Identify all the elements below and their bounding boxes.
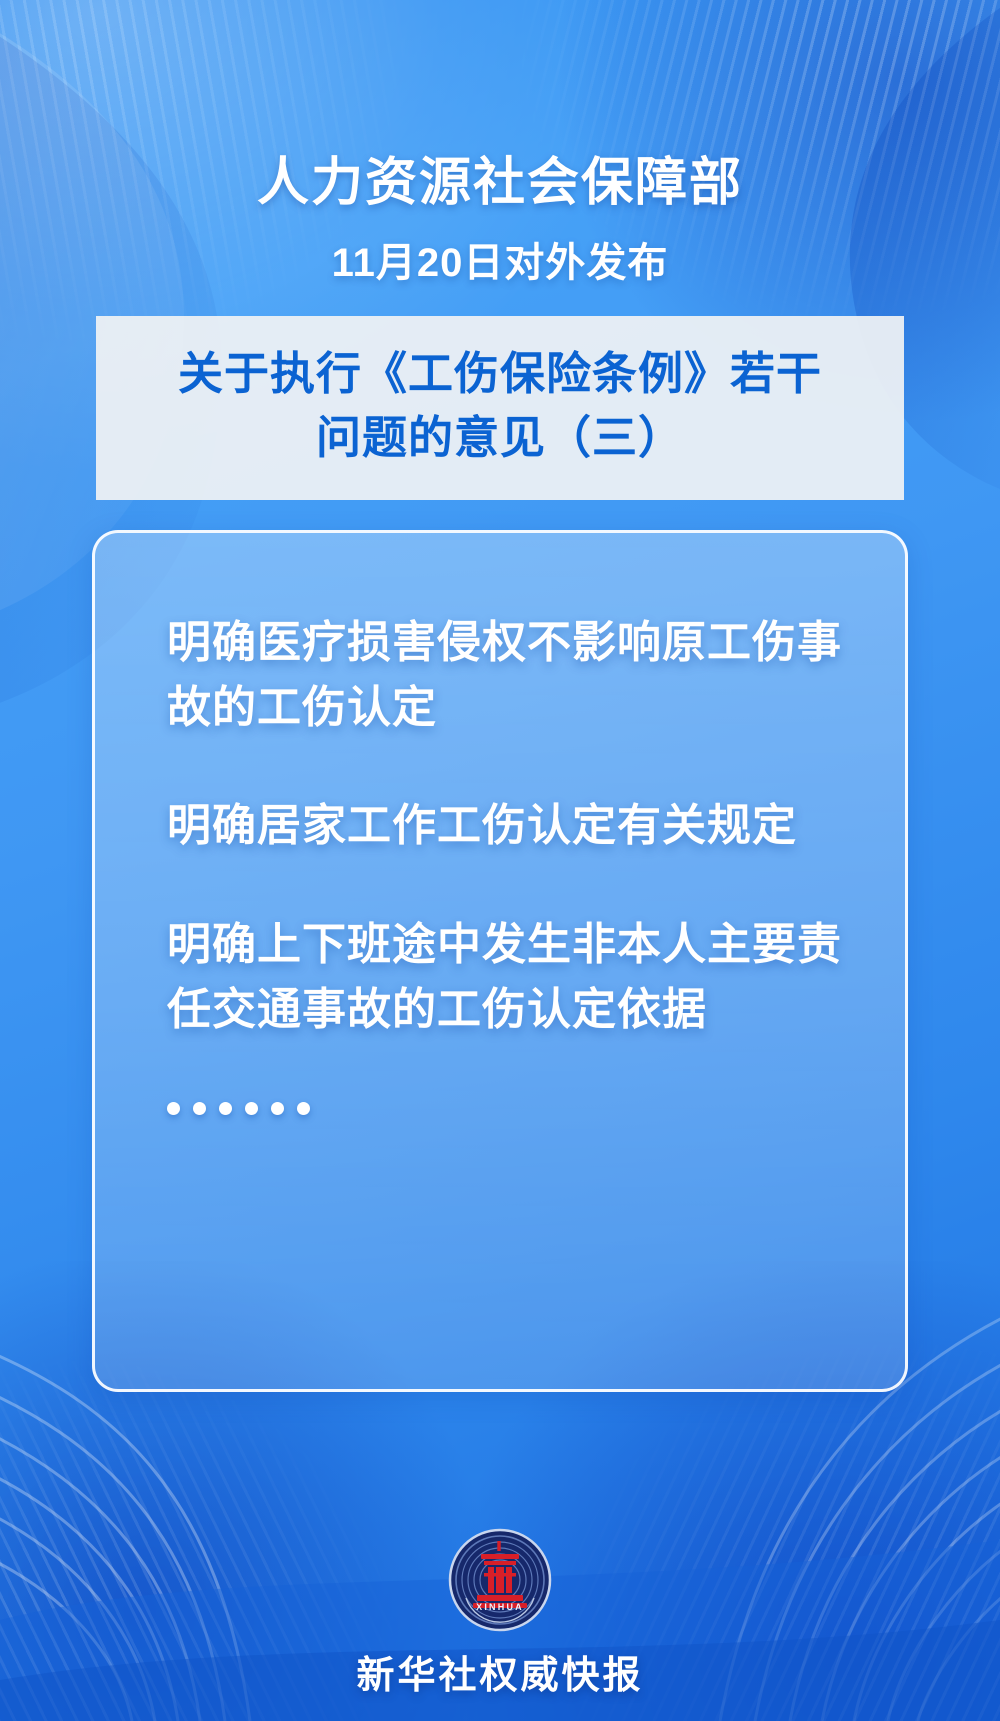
ellipsis-dot [271, 1102, 284, 1115]
list-item: 明确上下班途中发生非本人主要责任交通事故的工伤认定依据 [167, 913, 849, 1042]
ellipsis-dot [167, 1102, 180, 1115]
release-date-text: 11月20日对外发布 [0, 230, 1000, 288]
page-title: 人力资源社会保障部 [0, 140, 1000, 215]
document-title-line-1: 关于执行《工伤保险条例》若干 [130, 342, 870, 406]
key-points-card: 明确医疗损害侵权不影响原工伤事故的工伤认定 明确居家工作工伤认定有关规定 明确上… [92, 530, 908, 1392]
footer: XINHUA 新华社权威快报 [0, 1528, 1000, 1699]
ellipsis-dot [245, 1102, 258, 1115]
brand-name: 新华社权威快报 [0, 1644, 1000, 1699]
ellipsis-dot [219, 1102, 232, 1115]
ellipsis-dot [193, 1102, 206, 1115]
logo-wordmark: XINHUA [476, 1602, 524, 1612]
ellipsis-dot [297, 1102, 310, 1115]
key-points-list: 明确医疗损害侵权不影响原工伤事故的工伤认定 明确居家工作工伤认定有关规定 明确上… [167, 611, 849, 1115]
document-title-line-2: 问题的意见（三） [130, 406, 870, 470]
list-item: 明确居家工作工伤认定有关规定 [167, 794, 849, 859]
ellipsis-indicator [167, 1102, 849, 1115]
xinhua-emblem-icon: XINHUA [448, 1528, 552, 1632]
poster-canvas: 人力资源社会保障部 11月20日对外发布 关于执行《工伤保险条例》若干 问题的意… [0, 0, 1000, 1721]
list-item: 明确医疗损害侵权不影响原工伤事故的工伤认定 [167, 611, 849, 740]
document-title-box: 关于执行《工伤保险条例》若干 问题的意见（三） [96, 316, 904, 500]
